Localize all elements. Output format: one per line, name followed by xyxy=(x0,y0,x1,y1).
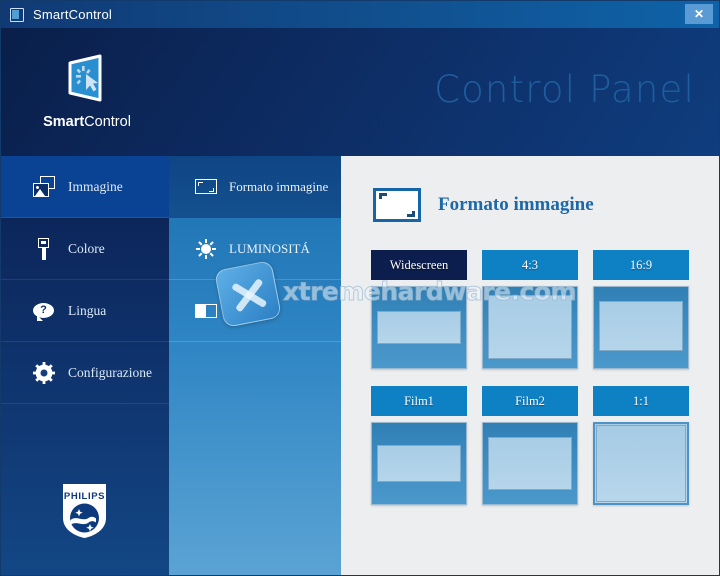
logo-bold: Smart xyxy=(43,114,84,130)
subnav-item-label: Formato immagine xyxy=(229,179,328,195)
ratio-button[interactable]: 16:9 xyxy=(593,250,689,280)
ratio-preview[interactable] xyxy=(482,422,578,505)
sidebar-item-configurazione[interactable]: Configurazione xyxy=(1,342,169,404)
app-logo: SmartControl xyxy=(39,53,135,130)
sidebar-item-colore[interactable]: Colore xyxy=(1,218,169,280)
ratio-option-1-1[interactable]: 1:1 xyxy=(593,386,689,505)
ratio-button[interactable]: Film1 xyxy=(371,386,467,416)
main-panel: Formato immagine Widescreen 4:3 16:9 xyxy=(341,156,720,576)
subnav-item-label: Contrasto xyxy=(229,303,280,319)
ratio-preview[interactable] xyxy=(593,286,689,369)
sun-icon xyxy=(195,239,217,259)
ratio-button[interactable]: Widescreen xyxy=(371,250,467,280)
ratio-preview[interactable] xyxy=(482,286,578,369)
subnav-item-formato-immagine[interactable]: Formato immagine xyxy=(169,156,341,218)
banner-title: Control Panel xyxy=(434,68,695,111)
sidebar-item-label: Immagine xyxy=(68,179,123,195)
ratio-button[interactable]: 4:3 xyxy=(482,250,578,280)
page-title: Formato immagine xyxy=(438,194,594,216)
subnav-item-label: LUMINOSITÁ xyxy=(229,241,310,257)
philips-shield-logo: PHILIPS xyxy=(61,482,108,545)
subnav-item-contrasto[interactable]: Contrasto xyxy=(169,280,341,342)
app-logo-text: SmartControl xyxy=(39,114,135,130)
ratio-preview[interactable] xyxy=(371,422,467,505)
smartcontrol-screen-cursor-icon xyxy=(64,53,110,107)
ratio-button[interactable]: 1:1 xyxy=(593,386,689,416)
logo-light: Control xyxy=(84,114,131,130)
smartcontrol-window: SmartControl ✕ Control Panel xyxy=(0,0,720,576)
ratio-preview[interactable] xyxy=(593,422,689,505)
gear-icon xyxy=(33,362,55,384)
aspect-frame-icon xyxy=(373,188,421,222)
ratio-button[interactable]: Film2 xyxy=(482,386,578,416)
question-bubble-icon: ? xyxy=(33,300,55,322)
title-bar: SmartControl ✕ xyxy=(1,1,719,28)
color-sensor-icon xyxy=(33,238,55,260)
aspect-frame-icon xyxy=(195,177,217,197)
ratio-preview[interactable] xyxy=(371,286,467,369)
pictures-icon xyxy=(33,176,55,198)
aspect-ratio-grid: Widescreen 4:3 16:9 Film1 xyxy=(371,250,701,505)
window-title: SmartControl xyxy=(33,7,112,22)
monitor-icon xyxy=(10,8,24,22)
ratio-option-film1[interactable]: Film1 xyxy=(371,386,467,505)
svg-text:PHILIPS: PHILIPS xyxy=(64,491,105,502)
close-button[interactable]: ✕ xyxy=(685,4,713,24)
ratio-option-4-3[interactable]: 4:3 xyxy=(482,250,578,369)
panel-header: Formato immagine xyxy=(373,188,594,222)
subnav-item-luminosita[interactable]: LUMINOSITÁ xyxy=(169,218,341,280)
header-banner: Control Panel SmartControl xyxy=(1,28,719,156)
ratio-option-16-9[interactable]: 16:9 xyxy=(593,250,689,369)
sidebar-item-immagine[interactable]: Immagine xyxy=(1,156,169,218)
ratio-option-film2[interactable]: Film2 xyxy=(482,386,578,505)
ratio-option-widescreen[interactable]: Widescreen xyxy=(371,250,467,369)
primary-sidebar: Immagine Colore ? Lingua xyxy=(1,156,169,576)
contrast-icon xyxy=(195,301,217,321)
sidebar-item-label: Lingua xyxy=(68,303,106,319)
sidebar-item-label: Colore xyxy=(68,241,105,257)
sidebar-item-label: Configurazione xyxy=(68,365,152,381)
sidebar-item-lingua[interactable]: ? Lingua xyxy=(1,280,169,342)
secondary-sidebar: Formato immagine LUMINOSITÁ Contrasto xyxy=(169,156,341,576)
